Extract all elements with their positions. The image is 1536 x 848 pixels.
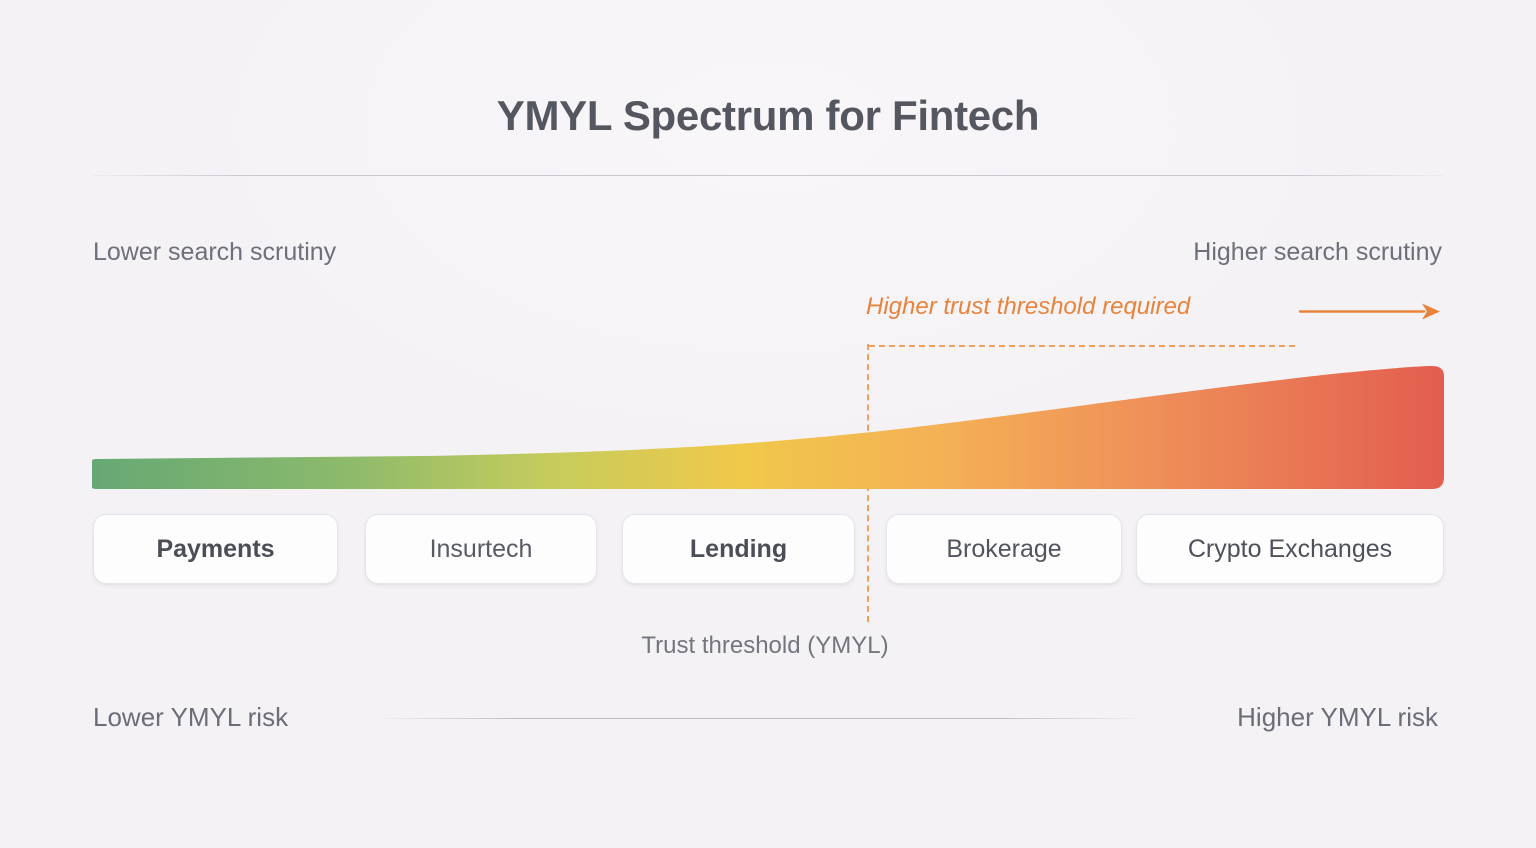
chip-label: Brokerage bbox=[946, 535, 1061, 564]
risk-scale-line bbox=[383, 718, 1135, 719]
ymyl-spectrum-infographic: YMYL Spectrum for Fintech Lower search s… bbox=[0, 0, 1536, 848]
chip-label: Insurtech bbox=[430, 535, 533, 564]
header-divider bbox=[92, 175, 1444, 176]
chip-insurtech[interactable]: Insurtech bbox=[365, 514, 597, 584]
arrow-right-icon bbox=[1298, 297, 1444, 327]
lower-scrutiny-label: Lower search scrutiny bbox=[93, 238, 336, 267]
page-title: YMYL Spectrum for Fintech bbox=[0, 92, 1536, 140]
chip-payments[interactable]: Payments bbox=[93, 514, 338, 584]
higher-risk-label: Higher YMYL risk bbox=[1237, 702, 1438, 733]
threshold-caption: Trust threshold (YMYL) bbox=[0, 632, 1533, 660]
chip-crypto-exchanges[interactable]: Crypto Exchanges bbox=[1136, 514, 1444, 584]
chip-label: Lending bbox=[690, 535, 787, 564]
chip-label: Payments bbox=[156, 535, 274, 564]
higher-scrutiny-label: Higher search scrutiny bbox=[1193, 238, 1442, 267]
category-chip-row: Payments Insurtech Lending Brokerage Cry… bbox=[93, 514, 1444, 586]
risk-ramp-area bbox=[92, 360, 1444, 490]
trust-threshold-callout: Higher trust threshold required bbox=[866, 293, 1190, 321]
threshold-guide-horizontal bbox=[869, 345, 1295, 347]
chip-brokerage[interactable]: Brokerage bbox=[886, 514, 1122, 584]
lower-risk-label: Lower YMYL risk bbox=[93, 702, 288, 733]
chip-label: Crypto Exchanges bbox=[1188, 535, 1392, 564]
chip-lending[interactable]: Lending bbox=[622, 514, 855, 584]
